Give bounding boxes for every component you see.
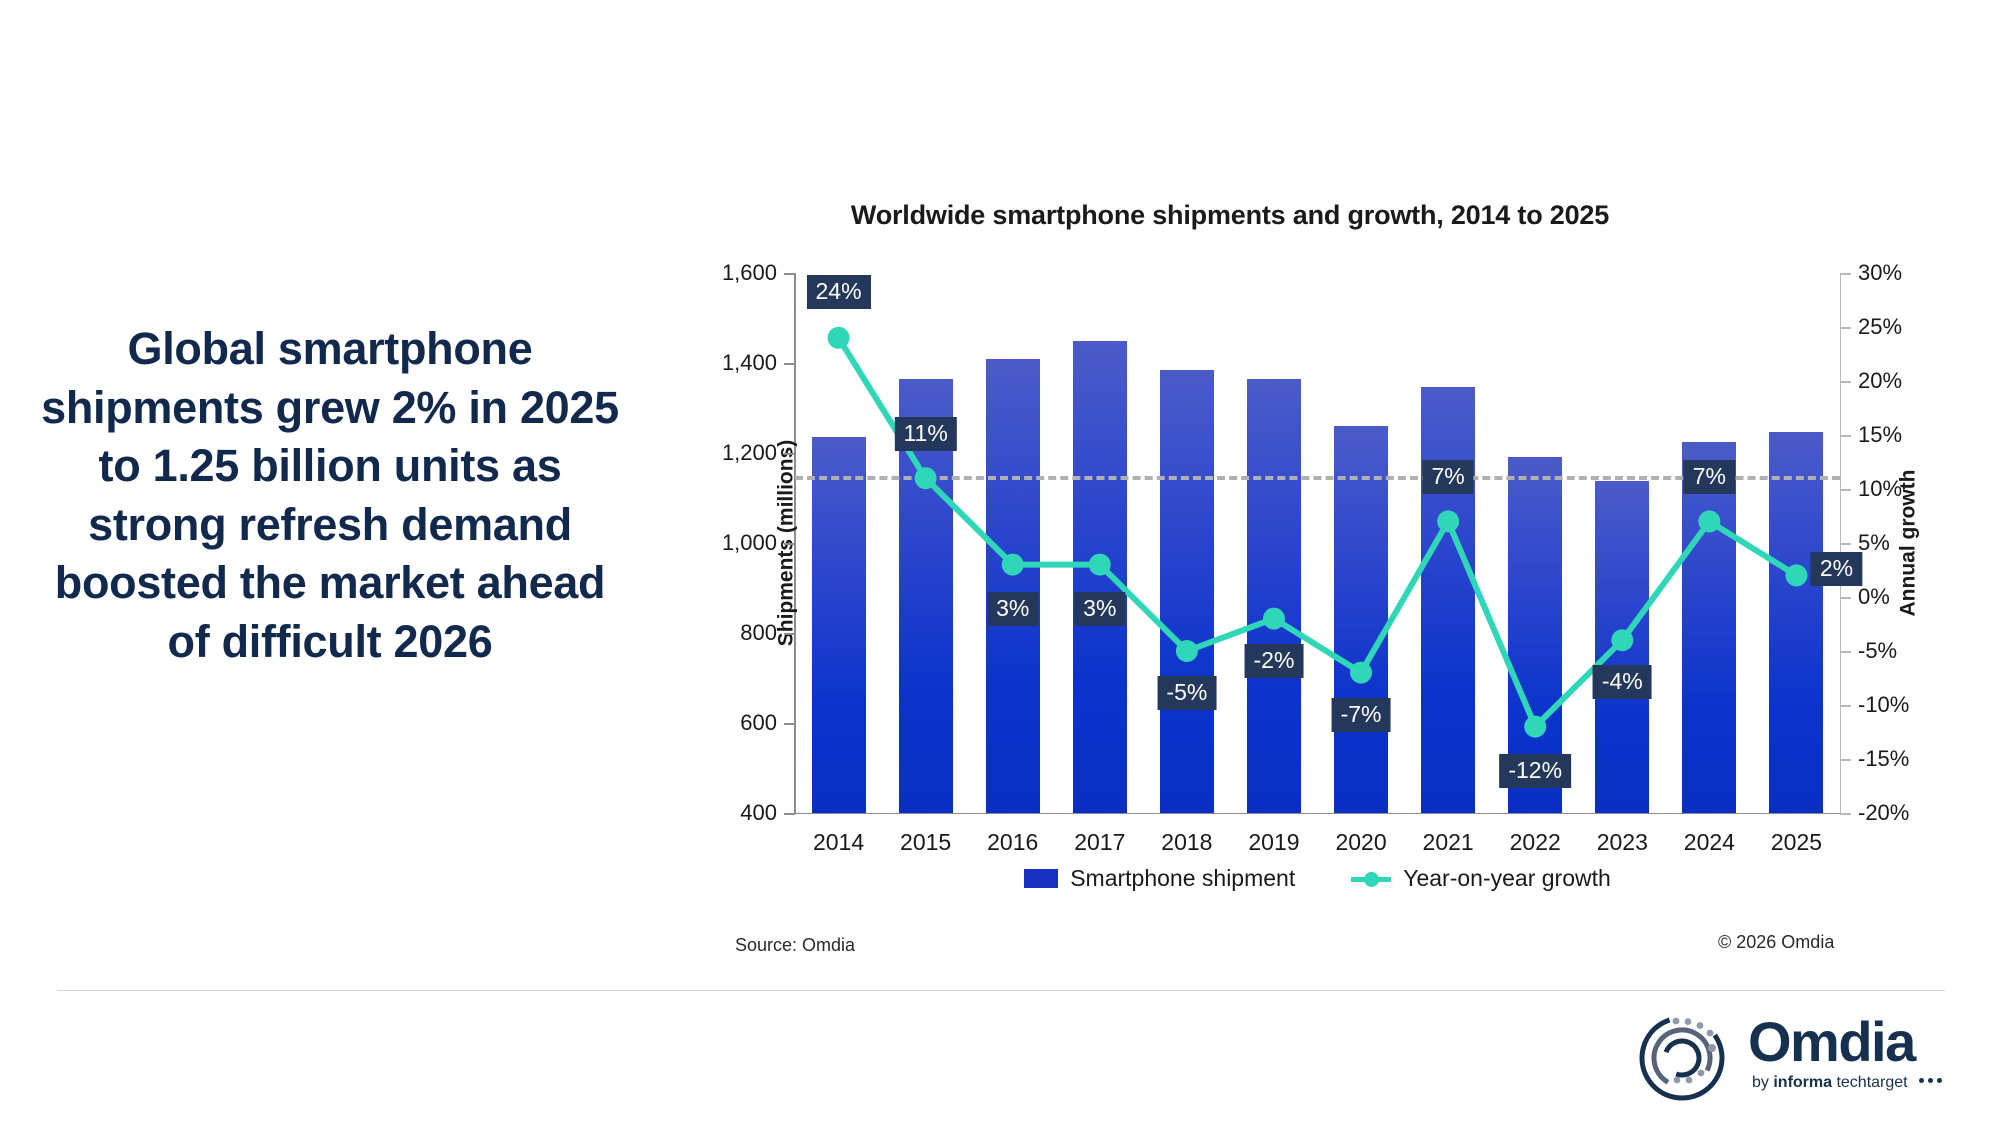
chart-legend: Smartphone shipment Year-on-year growth xyxy=(795,865,1840,892)
chart-title: Worldwide smartphone shipments and growt… xyxy=(640,200,1820,231)
copyright-note: © 2026 Omdia xyxy=(1718,932,1834,953)
x-axis-label-2024: 2024 xyxy=(1684,829,1735,856)
growth-point-2021 xyxy=(1437,510,1459,532)
growth-line-series xyxy=(795,273,1840,813)
y-axis-left-tick-label: 400 xyxy=(740,802,777,824)
growth-label-2019: -2% xyxy=(1245,644,1304,678)
y-axis-left-tick xyxy=(784,363,795,365)
growth-point-2016 xyxy=(1002,554,1024,576)
y-axis-right-tick xyxy=(1840,705,1851,707)
line-swatch-icon xyxy=(1351,870,1391,888)
y-axis-left-tick-label: 1,400 xyxy=(722,352,777,374)
growth-point-2017 xyxy=(1089,554,1111,576)
x-axis-label-2022: 2022 xyxy=(1510,829,1561,856)
x-axis-label-2019: 2019 xyxy=(1248,829,1299,856)
y-axis-right-tick-label: 20% xyxy=(1858,370,1902,392)
x-axis-label-2017: 2017 xyxy=(1074,829,1125,856)
omdia-swirl-icon xyxy=(1632,1008,1736,1104)
growth-label-2016: 3% xyxy=(987,592,1038,626)
growth-label-2017: 3% xyxy=(1074,592,1125,626)
growth-point-2018 xyxy=(1176,640,1198,662)
y-axis-right-tick xyxy=(1840,327,1851,329)
growth-point-2024 xyxy=(1698,510,1720,532)
legend-label-shipment: Smartphone shipment xyxy=(1070,865,1295,892)
y-axis-left-tick xyxy=(784,543,795,545)
y-axis-right-tick-label: -10% xyxy=(1858,694,1909,716)
growth-point-2015 xyxy=(915,467,937,489)
growth-point-2025 xyxy=(1785,564,1807,586)
y-axis-left-tick-label: 1,000 xyxy=(722,532,777,554)
bar-swatch-icon xyxy=(1024,869,1058,888)
growth-label-2015: 11% xyxy=(894,417,956,451)
legend-label-growth: Year-on-year growth xyxy=(1403,865,1611,892)
footer-divider xyxy=(57,990,1945,991)
y-axis-right-tick-label: -20% xyxy=(1858,802,1909,824)
y-axis-left-tick-label: 1,600 xyxy=(722,262,777,284)
growth-label-2022: -12% xyxy=(1499,754,1571,788)
y-axis-left-tick xyxy=(784,453,795,455)
y-axis-right-tick xyxy=(1840,435,1851,437)
growth-label-2021: 7% xyxy=(1423,460,1474,494)
growth-label-2020: -7% xyxy=(1332,698,1391,732)
legend-item-growth: Year-on-year growth xyxy=(1351,865,1611,892)
growth-label-2014: 24% xyxy=(807,275,871,309)
x-axis-label-2023: 2023 xyxy=(1597,829,1648,856)
growth-point-2014 xyxy=(828,327,850,349)
growth-label-2018: -5% xyxy=(1157,676,1216,710)
omdia-dots-icon xyxy=(1919,1078,1942,1083)
omdia-logo: Omdia by informa techtarget xyxy=(1632,1008,1952,1106)
y-axis-left-tick xyxy=(784,633,795,635)
y-axis-right-tick xyxy=(1840,273,1851,275)
y-axis-left-tick-label: 600 xyxy=(740,712,777,734)
y-axis-right-tick xyxy=(1840,651,1851,653)
y-axis-right-tick-label: -15% xyxy=(1858,748,1909,770)
y-axis-left-tick-label: 1,200 xyxy=(722,442,777,464)
growth-label-2023: -4% xyxy=(1593,665,1652,699)
y-axis-right-tick xyxy=(1840,813,1851,815)
x-axis-label-2018: 2018 xyxy=(1161,829,1212,856)
y-axis-left-tick xyxy=(784,273,795,275)
x-axis-label-2020: 2020 xyxy=(1335,829,1386,856)
x-axis-label-2021: 2021 xyxy=(1423,829,1474,856)
y-axis-right-tick-label: 25% xyxy=(1858,316,1902,338)
y-axis-right-tick xyxy=(1840,381,1851,383)
y-axis-right-tick xyxy=(1840,489,1851,491)
growth-label-2025: 2% xyxy=(1811,552,1862,586)
x-axis-label-2016: 2016 xyxy=(987,829,1038,856)
y-axis-left-tick xyxy=(784,723,795,725)
y-axis-right-tick-label: 5% xyxy=(1858,532,1890,554)
omdia-wordmark: Omdia xyxy=(1748,1014,1915,1070)
growth-label-2024: 7% xyxy=(1684,460,1735,494)
omdia-tagline: by informa techtarget xyxy=(1752,1074,1908,1092)
plot-area: Shipments (millions) Annual growth 1,600… xyxy=(795,273,1840,813)
growth-point-2023 xyxy=(1611,629,1633,651)
y-axis-right-tick xyxy=(1840,759,1851,761)
y-axis-right-tick-label: 15% xyxy=(1858,424,1902,446)
source-note: Source: Omdia xyxy=(735,935,855,956)
y-axis-right-tick-label: 0% xyxy=(1858,586,1890,608)
y-axis-right-tick-label: 10% xyxy=(1858,478,1902,500)
y-axis-right-tick xyxy=(1840,543,1851,545)
y-axis-right-tick-label: 30% xyxy=(1858,262,1902,284)
legend-item-shipment: Smartphone shipment xyxy=(1024,865,1295,892)
y-axis-left-tick-label: 800 xyxy=(740,622,777,644)
page-title: Global smartphone shipments grew 2% in 2… xyxy=(40,320,620,671)
y-axis-right-tick-label: -5% xyxy=(1858,640,1897,662)
x-axis-label-2025: 2025 xyxy=(1771,829,1822,856)
y-axis-left-tick xyxy=(784,813,795,815)
x-axis-label-2014: 2014 xyxy=(813,829,864,856)
x-axis-label-2015: 2015 xyxy=(900,829,951,856)
growth-point-2022 xyxy=(1524,716,1546,738)
chart-panel: Worldwide smartphone shipments and growt… xyxy=(640,140,1970,970)
growth-point-2019 xyxy=(1263,608,1285,630)
slide-canvas: Global smartphone shipments grew 2% in 2… xyxy=(0,0,2000,1125)
y-axis-right-tick xyxy=(1840,597,1851,599)
growth-point-2020 xyxy=(1350,662,1372,684)
